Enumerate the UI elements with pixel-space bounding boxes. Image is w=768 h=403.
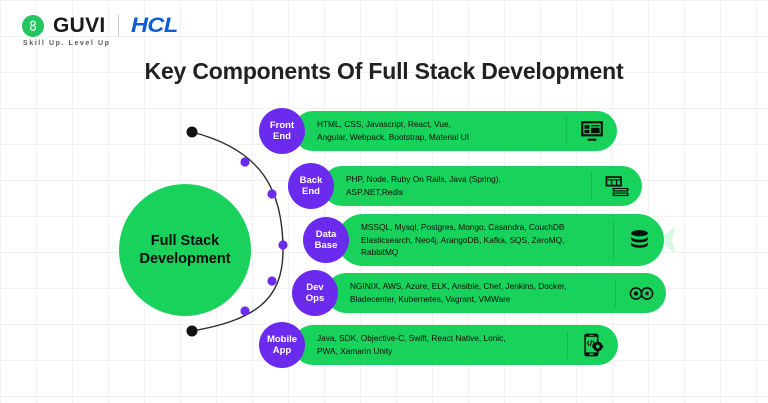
guvi-wordmark: GUVI [53, 14, 106, 38]
row-text-devops: NGINIX, AWS, Azure, ELK, Ansible, Chef, … [350, 280, 609, 306]
desktop-monitor-icon [577, 116, 607, 146]
row-divider [615, 279, 616, 307]
brand-logo-row: GUVI HCL [22, 14, 172, 38]
row-back-end[interactable]: Back End PHP, Node, Ruby On Rails, Java … [288, 163, 642, 209]
hub-label: Full Stack Development [139, 232, 230, 268]
brand-divider [118, 15, 119, 37]
pill-mobile-app: Java, SDK, Objective-C, Swift, React Nat… [293, 325, 618, 365]
badge-back-end[interactable]: Back End [288, 163, 334, 209]
arc-endpoint-dot [187, 326, 198, 337]
hub-circle: Full Stack Development [119, 184, 251, 316]
arc-node-dot [240, 306, 249, 315]
pill-front-end: HTML, CSS, Javascript, React, Vue, Angul… [293, 111, 617, 151]
row-divider [613, 220, 614, 260]
row-text-database: MSSQL, Mysql, Postgres, Mongo, Casandra,… [361, 221, 607, 260]
row-database[interactable]: Data Base MSSQL, Mysql, Postgres, Mongo,… [303, 214, 664, 266]
infographic-canvas: GUVI HCL Skill Up. Level Up Key Componen… [0, 0, 768, 403]
pill-devops: NGINIX, AWS, Azure, ELK, Ansible, Chef, … [326, 273, 666, 313]
server-code-icon [602, 171, 632, 201]
page-title: Key Components Of Full Stack Development [0, 58, 768, 85]
arc-node-dot [267, 189, 276, 198]
arc-endpoint-dot [187, 127, 198, 138]
mobile-code-gear-icon [578, 330, 608, 360]
row-text-front-end: HTML, CSS, Javascript, React, Vue, Angul… [317, 118, 560, 144]
row-mobile-app[interactable]: Mobile App Java, SDK, Objective-C, Swift… [259, 322, 618, 368]
pill-back-end: PHP, Node, Ruby On Rails, Java (Spring),… [322, 166, 642, 206]
database-cylinder-icon [624, 225, 654, 255]
row-divider [567, 331, 568, 359]
row-text-mobile-app: Java, SDK, Objective-C, Swift, React Nat… [317, 332, 561, 358]
badge-mobile-app[interactable]: Mobile App [259, 322, 305, 368]
brand-tagline: Skill Up. Level Up [23, 40, 172, 47]
badge-database[interactable]: Data Base [303, 217, 349, 263]
row-text-back-end: PHP, Node, Ruby On Rails, Java (Spring),… [346, 173, 585, 199]
arc-node-dot [267, 276, 276, 285]
devops-infinity-icon [626, 278, 656, 308]
row-devops[interactable]: Dev Ops NGINIX, AWS, Azure, ELK, Ansible… [292, 270, 666, 316]
row-front-end[interactable]: Front End HTML, CSS, Javascript, React, … [259, 108, 617, 154]
badge-devops[interactable]: Dev Ops [292, 270, 338, 316]
guvi-leaf-icon [22, 15, 44, 37]
pill-database: MSSQL, Mysql, Postgres, Mongo, Casandra,… [337, 214, 664, 266]
arc-node-dot [278, 240, 287, 249]
row-divider [591, 172, 592, 200]
row-divider [566, 117, 567, 145]
brand-header: GUVI HCL Skill Up. Level Up [22, 14, 172, 47]
arc-node-dot [240, 157, 249, 166]
hcl-wordmark: HCL [131, 14, 178, 38]
badge-front-end[interactable]: Front End [259, 108, 305, 154]
